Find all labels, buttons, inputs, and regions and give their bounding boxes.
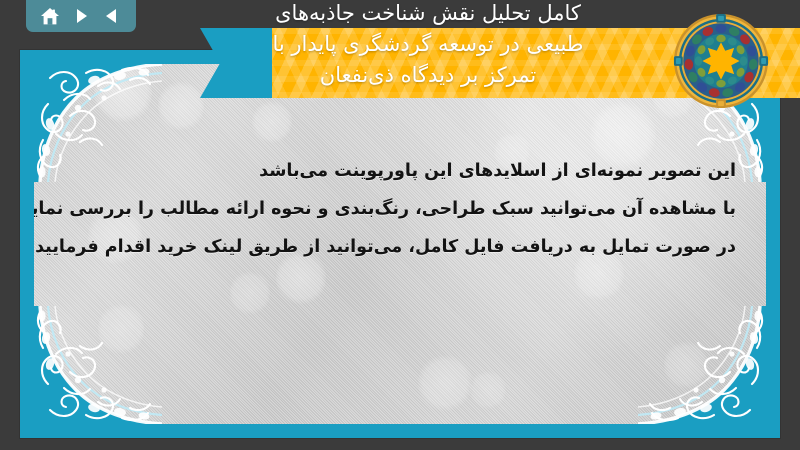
islamic-medallion-ornament (672, 12, 770, 110)
back-button[interactable] (99, 4, 125, 28)
forward-triangle-icon (72, 7, 90, 25)
body-line-1: این تصویر نمونه‌ای از اسلایدهای این پاور… (74, 152, 736, 190)
corner-ornament-bottom-left (34, 306, 162, 424)
slide-frame: این تصویر نمونه‌ای از اسلایدهای این پاور… (20, 50, 780, 438)
body-line-2: با مشاهده آن می‌توانید سبک طراحی، رنگ‌بن… (74, 190, 736, 228)
bokeh-circle (470, 370, 506, 410)
home-button[interactable] (37, 4, 63, 28)
bokeh-circle (94, 64, 152, 124)
slide-content-area: این تصویر نمونه‌ای از اسلایدهای این پاور… (34, 64, 766, 424)
title-line-1: کامل تحلیل نقش شناخت جاذبه‌های (148, 0, 708, 29)
corner-ornament-bottom-right (638, 306, 766, 424)
bokeh-circle (98, 302, 144, 356)
slide-body-text: این تصویر نمونه‌ای از اسلایدهای این پاور… (74, 152, 736, 266)
body-line-3: در صورت تمایل به دریافت فایل کامل، می‌تو… (74, 228, 736, 266)
bokeh-circle (664, 340, 708, 390)
forward-button[interactable] (68, 4, 94, 28)
bokeh-circle (230, 270, 270, 316)
slide-preview-window: کامل تحلیل نقش شناخت جاذبه‌های طبیعی در … (0, 0, 800, 450)
header-teal-pennant (200, 28, 272, 98)
back-triangle-icon (103, 7, 121, 25)
bokeh-circle (252, 100, 292, 144)
navigation-bar (26, 0, 136, 32)
bokeh-circle (418, 354, 472, 412)
bokeh-circle (158, 80, 204, 132)
home-icon (40, 7, 60, 26)
